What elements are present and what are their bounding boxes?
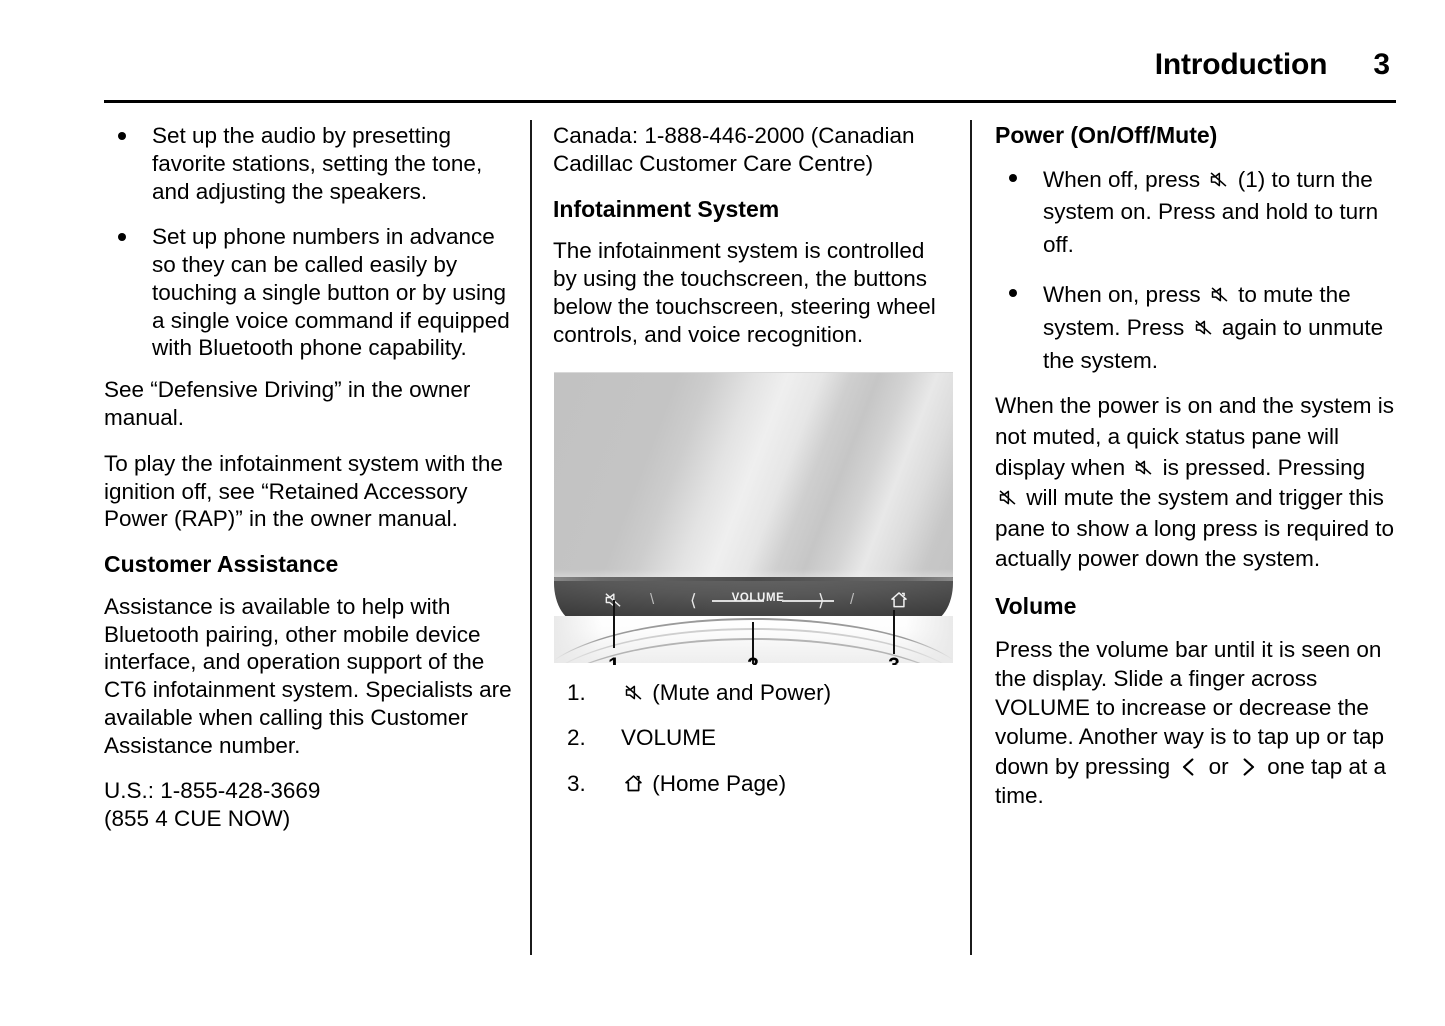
bezel-tick-right-icon: / [850,591,855,608]
bullet-dot-icon [1009,174,1017,182]
heading-volume: Volume [995,593,1395,621]
volume-up-chevron-icon[interactable]: ⟩ [818,591,825,611]
mute-icon [997,487,1018,508]
volume-text-or: or [1209,754,1229,779]
infotainment-controls-photo: \ ⟨ VOLUME ⟩ / [554,372,953,665]
volume-bar-right-dash [782,600,834,602]
paragraph-retained-accessory-power: To play the infotainment system with the… [104,450,516,533]
bullet-text: Set up phone numbers in advance so they … [152,224,510,360]
list-item: When off, press (1) to turn the system o… [995,164,1395,262]
legend-text: (Home Page) [652,771,786,796]
volume-bar-label[interactable]: VOLUME [730,592,786,604]
heading-infotainment-system: Infotainment System [553,196,953,224]
home-icon [623,773,644,794]
paragraph-infotainment: The infotainment system is controlled by… [553,237,953,348]
column-three: Power (On/Off/Mute) When off, press (1) … [995,122,1395,828]
legend-number: 3. [567,770,603,798]
paragraph-quick-status-pane: When the power is on and the system is n… [995,391,1395,575]
bullet-text-a: When on, press [1043,282,1201,307]
bullet-dot-icon [118,132,126,140]
legend-number: 1. [567,679,603,707]
setup-bullet-list: Set up the audio by presetting favorite … [104,122,516,362]
heading-customer-assistance: Customer Assistance [104,551,516,579]
paragraph-defensive-driving: See “Defensive Driving” in the owner man… [104,376,516,432]
phone-us-line2: (855 4 CUE NOW) [104,806,290,831]
bullet-text-a: When off, press [1043,167,1200,192]
phone-us: U.S.: 1-855-428-3669 (855 4 CUE NOW) [104,777,516,833]
callout-number-2: 2 [741,654,765,665]
legend-text: VOLUME [621,725,716,750]
list-item: 1. (Mute and Power) [553,679,953,707]
power-bullet-list: When off, press (1) to turn the system o… [995,164,1395,378]
status-text-b: is pressed. Pressing [1163,455,1366,480]
manual-page: Introduction 3 Set up the audio by prese… [0,0,1445,1026]
header-rule [104,100,1396,103]
page-title: Introduction [1155,48,1328,82]
mute-icon [1193,317,1214,338]
page-number: 3 [1373,48,1390,82]
list-item: When on, press to mute the system. Press… [995,279,1395,377]
callout-line-1 [613,600,615,648]
callout-line-3 [893,610,895,654]
bullet-dot-icon [1009,289,1017,297]
volume-down-chevron-icon[interactable]: ⟨ [690,591,697,611]
callout-number-3: 3 [882,654,906,665]
bezel-tick-left-icon: \ [650,591,655,608]
callout-number-1: 1 [602,654,626,665]
bullet-dot-icon [118,233,126,241]
status-text-c: will mute the system and trigger this pa… [995,485,1394,571]
column-two: Canada: 1-888-446-2000 (Canadian Cadilla… [553,122,953,815]
bullet-text: Set up the audio by presetting favorite … [152,123,482,204]
figure-legend-list: 1. (Mute and Power) 2. VOLUME 3. [553,679,953,797]
mute-icon [623,682,644,703]
chevron-left-icon [1179,756,1199,778]
paragraph-assistance: Assistance is available to help with Blu… [104,593,516,760]
page-header: Introduction 3 [104,48,1396,106]
list-item: 2. VOLUME [553,724,953,752]
paragraph-volume: Press the volume bar until it is seen on… [995,635,1395,811]
mute-icon [1208,169,1229,190]
home-icon[interactable] [888,590,910,610]
column-one: Set up the audio by presetting favorite … [104,122,516,851]
phone-canada: Canada: 1-888-446-2000 (Canadian Cadilla… [553,122,953,178]
phone-us-line1: U.S.: 1-855-428-3669 [104,778,320,803]
mute-icon [1133,457,1154,478]
list-item: Set up phone numbers in advance so they … [104,223,516,362]
mute-icon [1209,284,1230,305]
column-divider-left [530,120,532,955]
list-item: 3. (Home Page) [553,770,953,798]
chevron-right-icon [1238,756,1258,778]
touchscreen-display [554,372,953,583]
heading-power: Power (On/Off/Mute) [995,122,1395,150]
list-item: Set up the audio by presetting favorite … [104,122,516,205]
legend-text: (Mute and Power) [652,680,831,705]
legend-number: 2. [567,724,603,752]
column-divider-right [970,120,972,955]
